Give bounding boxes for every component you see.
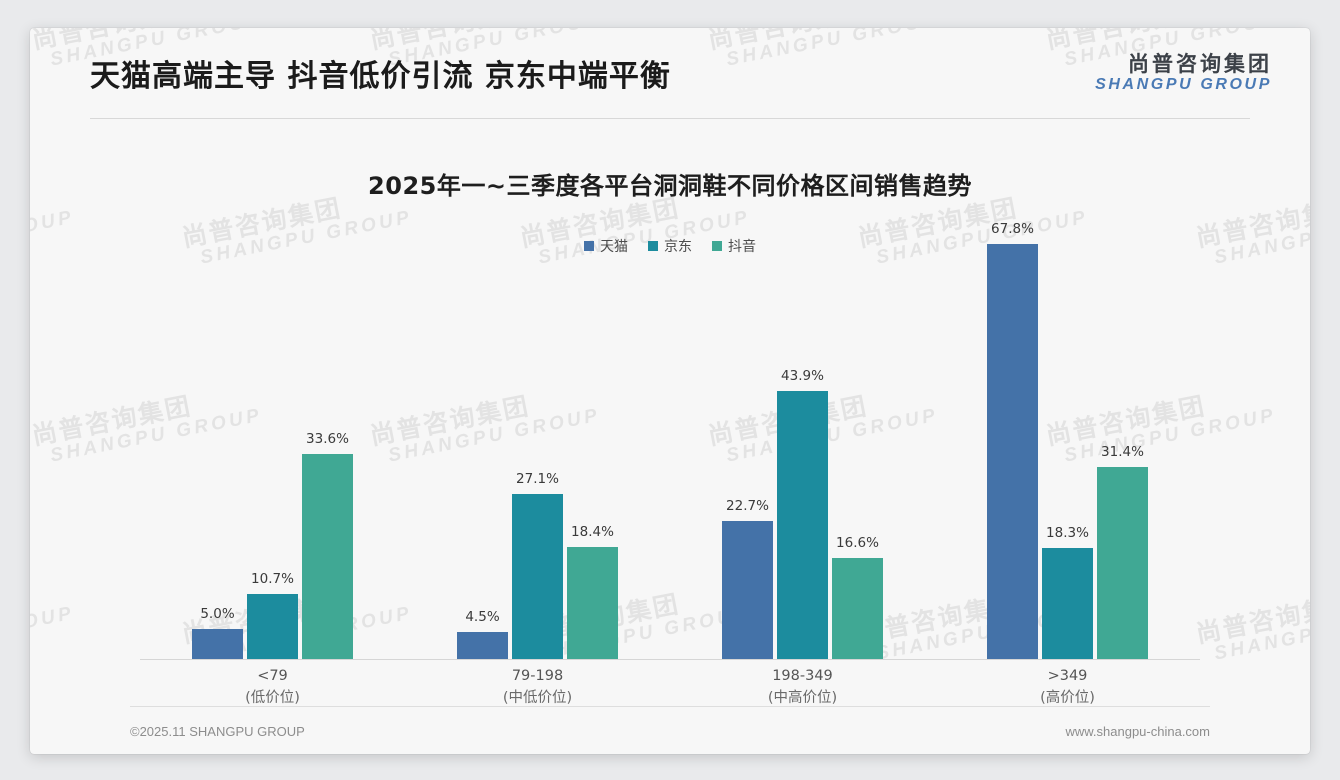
bar-slot-天猫-<79: 5.0%: [192, 178, 243, 660]
bar-京东->349[interactable]: [1042, 548, 1093, 660]
bar-value-label: 43.9%: [781, 368, 824, 384]
x-tick-main-label: 79-198: [405, 666, 670, 688]
bar-天猫-79-198[interactable]: [457, 632, 508, 660]
bar-抖音->349[interactable]: [1097, 467, 1148, 660]
brand-logo-english: SHANGPU GROUP: [1095, 77, 1272, 94]
x-axis-baseline: [140, 659, 1200, 660]
bar-天猫-198-349[interactable]: [722, 521, 773, 660]
x-tick-<79: <79(低价位): [140, 666, 405, 710]
brand-logo-chinese: 尚普咨询集团: [1095, 53, 1272, 75]
bar-抖音-198-349[interactable]: [832, 558, 883, 660]
bar-slot-抖音-198-349: 16.6%: [832, 178, 883, 660]
bar-京东-<79[interactable]: [247, 594, 298, 660]
bar-value-label: 16.6%: [836, 535, 879, 551]
page-title: 天猫高端主导 抖音低价引流 京东中端平衡: [90, 51, 671, 95]
bar-天猫-<79[interactable]: [192, 629, 243, 660]
footer-website: www.shangpu-china.com: [1065, 724, 1210, 739]
bar-天猫->349[interactable]: [987, 244, 1038, 660]
x-tick-main-label: <79: [140, 666, 405, 688]
bar-slot-抖音-<79: 33.6%: [302, 178, 353, 660]
bar-slot-京东->349: 18.3%: [1042, 178, 1093, 660]
brand-logo: 尚普咨询集团 SHANGPU GROUP: [1095, 53, 1272, 94]
x-tick->349: >349(高价位): [935, 666, 1200, 710]
bar-slot-天猫-198-349: 22.7%: [722, 178, 773, 660]
bar-slot-抖音->349: 31.4%: [1097, 178, 1148, 660]
bar-group->349: 67.8%18.3%31.4%: [935, 178, 1200, 660]
bar-value-label: 10.7%: [251, 571, 294, 587]
plot-area: 5.0%10.7%33.6%4.5%27.1%18.4%22.7%43.9%16…: [140, 178, 1200, 660]
bar-slot-京东-<79: 10.7%: [247, 178, 298, 660]
header-divider: [90, 118, 1250, 119]
bar-value-label: 18.3%: [1046, 525, 1089, 541]
bar-value-label: 18.4%: [571, 524, 614, 540]
slide-footer: ©2025.11 SHANGPU GROUP www.shangpu-china…: [30, 708, 1310, 754]
chart-panel: 2025年一~三季度各平台洞洞鞋不同价格区间销售趋势 天猫京东抖音 5.0%10…: [30, 118, 1310, 718]
slide-header: 天猫高端主导 抖音低价引流 京东中端平衡 尚普咨询集团 SHANGPU GROU…: [30, 28, 1310, 118]
bar-group-198-349: 22.7%43.9%16.6%: [670, 178, 935, 660]
bar-value-label: 31.4%: [1101, 444, 1144, 460]
slide-card: 尚普咨询集团SHANGPU GROUP尚普咨询集团SHANGPU GROUP尚普…: [30, 28, 1310, 754]
bar-value-label: 22.7%: [726, 498, 769, 514]
bar-抖音-<79[interactable]: [302, 454, 353, 660]
bar-slot-天猫-79-198: 4.5%: [457, 178, 508, 660]
bar-value-label: 67.8%: [991, 221, 1034, 237]
bar-slot-抖音-79-198: 18.4%: [567, 178, 618, 660]
x-axis-tick-labels: <79(低价位)79-198(中低价位)198-349(中高价位)>349(高价…: [140, 666, 1200, 710]
bar-抖音-79-198[interactable]: [567, 547, 618, 660]
bar-value-label: 4.5%: [465, 609, 499, 625]
footer-divider: [130, 706, 1210, 707]
bar-group-79-198: 4.5%27.1%18.4%: [405, 178, 670, 660]
bar-slot-京东-79-198: 27.1%: [512, 178, 563, 660]
x-tick-79-198: 79-198(中低价位): [405, 666, 670, 710]
bar-京东-79-198[interactable]: [512, 494, 563, 660]
bar-slot-天猫->349: 67.8%: [987, 178, 1038, 660]
bar-group-<79: 5.0%10.7%33.6%: [140, 178, 405, 660]
x-tick-main-label: >349: [935, 666, 1200, 688]
bar-slot-京东-198-349: 43.9%: [777, 178, 828, 660]
bar-value-label: 27.1%: [516, 471, 559, 487]
bar-京东-198-349[interactable]: [777, 391, 828, 660]
x-tick-198-349: 198-349(中高价位): [670, 666, 935, 710]
bar-value-label: 5.0%: [200, 606, 234, 622]
bar-value-label: 33.6%: [306, 431, 349, 447]
bar-groups: 5.0%10.7%33.6%4.5%27.1%18.4%22.7%43.9%16…: [140, 178, 1200, 660]
footer-copyright: ©2025.11 SHANGPU GROUP: [130, 724, 305, 739]
x-tick-main-label: 198-349: [670, 666, 935, 688]
